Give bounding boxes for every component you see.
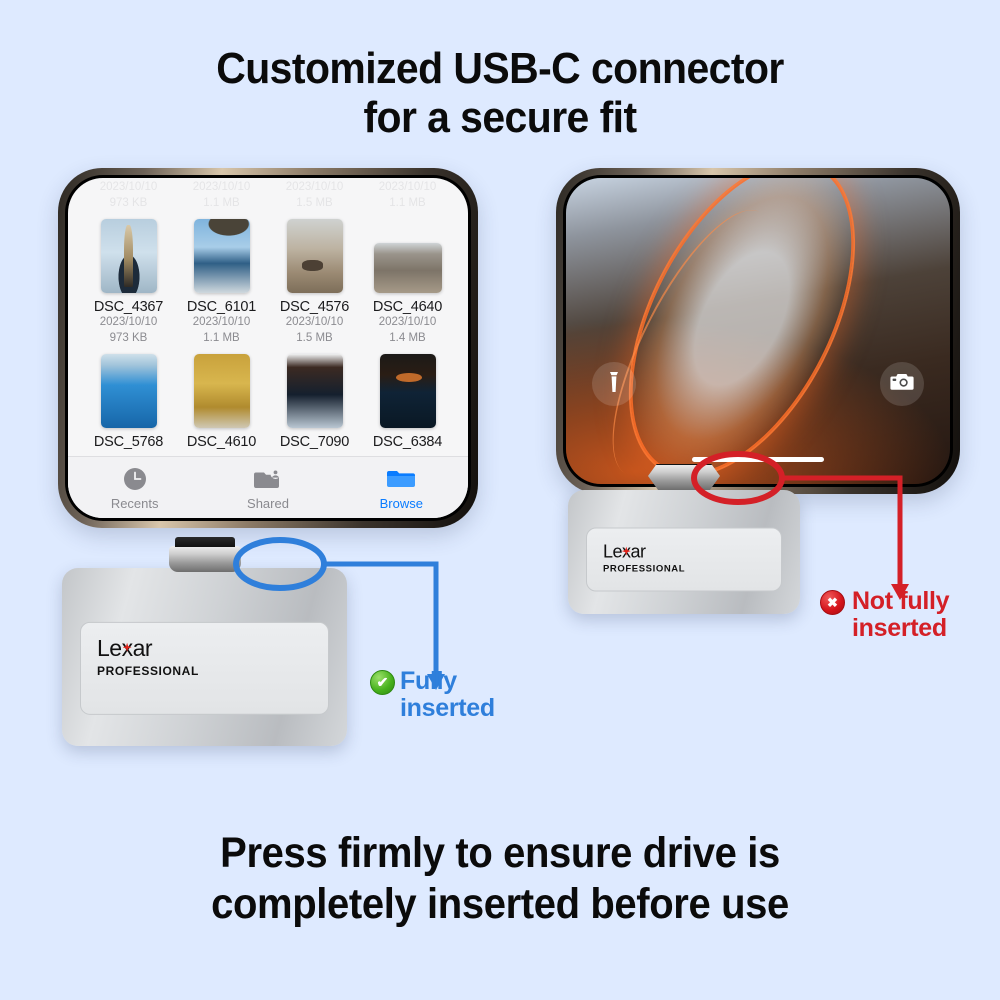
files-tab-bar: Recents Shared <box>68 456 468 518</box>
annotation-good-line-1: Fully <box>400 668 495 695</box>
page-title-line-1: Customized USB-C connector <box>35 44 965 93</box>
file-item[interactable]: DSC_5768 <box>82 352 175 456</box>
file-cell-clipped: 2023/10/10 1.5 MB <box>268 178 361 217</box>
phone-right-screen <box>566 178 950 484</box>
page-footer-line-1: Press firmly to ensure drive is <box>35 828 965 879</box>
lexar-x-mark: x <box>122 635 133 661</box>
file-thumbnail <box>101 219 157 293</box>
lexar-logo: Lexar <box>97 637 312 660</box>
file-item[interactable]: DSC_6101 2023/10/10 1.1 MB <box>175 217 268 352</box>
file-name: DSC_5768 <box>84 434 173 450</box>
lock-screen <box>566 178 950 484</box>
file-size: 1.1 MB <box>177 331 266 347</box>
lexar-sub-label: PROFESSIONAL <box>97 664 312 678</box>
phone-left-bezel: 2023/10/10 973 KB 2023/10/10 1.1 MB 2023… <box>65 175 471 521</box>
annotation-fully-inserted: Fully inserted <box>400 668 495 722</box>
file-cell-clipped: 2023/10/10 1.1 MB <box>361 178 454 217</box>
page-footer-line-2: completely inserted before use <box>35 879 965 930</box>
page-title: Customized USB-C connector for a secure … <box>35 44 965 143</box>
file-item[interactable]: DSC_4576 2023/10/10 1.5 MB <box>268 217 361 352</box>
file-date: 2023/10/10 <box>177 315 266 331</box>
lexar-x-mark: x <box>622 542 631 562</box>
file-item[interactable]: DSC_4367 2023/10/10 973 KB <box>82 217 175 352</box>
file-date: 2023/10/10 <box>84 315 173 331</box>
phone-left-fully-inserted: 2023/10/10 973 KB 2023/10/10 1.1 MB 2023… <box>58 168 478 528</box>
ssd-drive-not-fully-inserted: Lexar PROFESSIONAL <box>568 490 800 614</box>
files-app: 2023/10/10 973 KB 2023/10/10 1.1 MB 2023… <box>68 178 468 518</box>
tab-shared[interactable]: Shared <box>201 465 334 511</box>
file-name: DSC_4576 <box>270 299 359 315</box>
phone-right-bezel <box>563 175 953 487</box>
tab-recents[interactable]: Recents <box>68 465 201 511</box>
file-item[interactable]: DSC_4640 2023/10/10 1.4 MB <box>361 217 454 352</box>
tab-label: Recents <box>68 496 201 511</box>
ssd-label-panel: Lexar PROFESSIONAL <box>586 528 782 592</box>
files-grid: 2023/10/10 973 KB 2023/10/10 1.1 MB 2023… <box>68 178 468 456</box>
ssd-drive-fully-inserted: Lexar PROFESSIONAL <box>62 568 347 746</box>
tab-browse[interactable]: Browse <box>335 465 468 511</box>
clock-icon <box>68 465 201 493</box>
home-indicator <box>692 457 824 462</box>
file-thumbnail <box>101 354 157 428</box>
file-cell-clipped: 2023/10/10 973 KB <box>82 178 175 217</box>
annotation-not-fully-inserted: Not fully inserted <box>852 588 949 642</box>
annotation-bad-line-1: Not fully <box>852 588 949 615</box>
annotation-good-line-2: inserted <box>400 695 495 722</box>
lexar-logo: Lexar <box>603 543 765 561</box>
file-size: 1.1 MB <box>177 196 266 212</box>
file-name: DSC_4367 <box>84 299 173 315</box>
file-name: DSC_6101 <box>177 299 266 315</box>
file-thumbnail <box>374 243 442 293</box>
file-cell-clipped: 2023/10/10 1.1 MB <box>175 178 268 217</box>
file-size: 1.5 MB <box>270 196 359 212</box>
file-date: 2023/10/10 <box>84 180 173 196</box>
tab-label: Browse <box>335 496 468 511</box>
file-size: 973 KB <box>84 196 173 212</box>
leader-line-bad <box>783 478 900 586</box>
file-date: 2023/10/10 <box>270 180 359 196</box>
file-name: DSC_6384 <box>363 434 452 450</box>
file-thumbnail <box>194 354 250 428</box>
usb-c-connector-unseated <box>648 464 720 490</box>
file-thumbnail <box>380 354 436 428</box>
file-name: DSC_4610 <box>177 434 266 450</box>
annotation-bad-line-2: inserted <box>852 615 949 642</box>
file-size: 973 KB <box>84 331 173 347</box>
file-size: 1.1 MB <box>363 196 452 212</box>
file-thumbnail <box>194 219 250 293</box>
shared-folder-icon <box>201 465 334 493</box>
file-name: DSC_4640 <box>363 299 452 315</box>
file-date: 2023/10/10 <box>363 180 452 196</box>
page-footer-caption: Press firmly to ensure drive is complete… <box>35 828 965 929</box>
usb-c-connector-seated <box>169 546 241 572</box>
x-badge-icon <box>820 590 845 615</box>
phone-left-screen: 2023/10/10 973 KB 2023/10/10 1.1 MB 2023… <box>68 178 468 518</box>
file-name: DSC_7090 <box>270 434 359 450</box>
page-title-line-2: for a secure fit <box>35 93 965 142</box>
file-size: 1.5 MB <box>270 331 359 347</box>
file-thumbnail <box>287 354 343 428</box>
file-date: 2023/10/10 <box>270 315 359 331</box>
folder-icon <box>335 465 468 493</box>
flashlight-icon <box>607 371 621 398</box>
phone-right-not-fully-inserted <box>556 168 960 494</box>
file-date: 2023/10/10 <box>177 180 266 196</box>
file-item[interactable]: DSC_6384 <box>361 352 454 456</box>
file-size: 1.4 MB <box>363 331 452 347</box>
file-date: 2023/10/10 <box>363 315 452 331</box>
lexar-sub-label: PROFESSIONAL <box>603 564 765 575</box>
camera-button[interactable] <box>880 362 924 406</box>
file-item[interactable]: DSC_4610 <box>175 352 268 456</box>
file-item[interactable]: DSC_7090 <box>268 352 361 456</box>
flashlight-button[interactable] <box>592 362 636 406</box>
tab-label: Shared <box>201 496 334 511</box>
check-badge-icon <box>370 670 395 695</box>
ssd-label-panel: Lexar PROFESSIONAL <box>80 622 329 715</box>
file-thumbnail <box>287 219 343 293</box>
camera-icon <box>890 372 914 397</box>
